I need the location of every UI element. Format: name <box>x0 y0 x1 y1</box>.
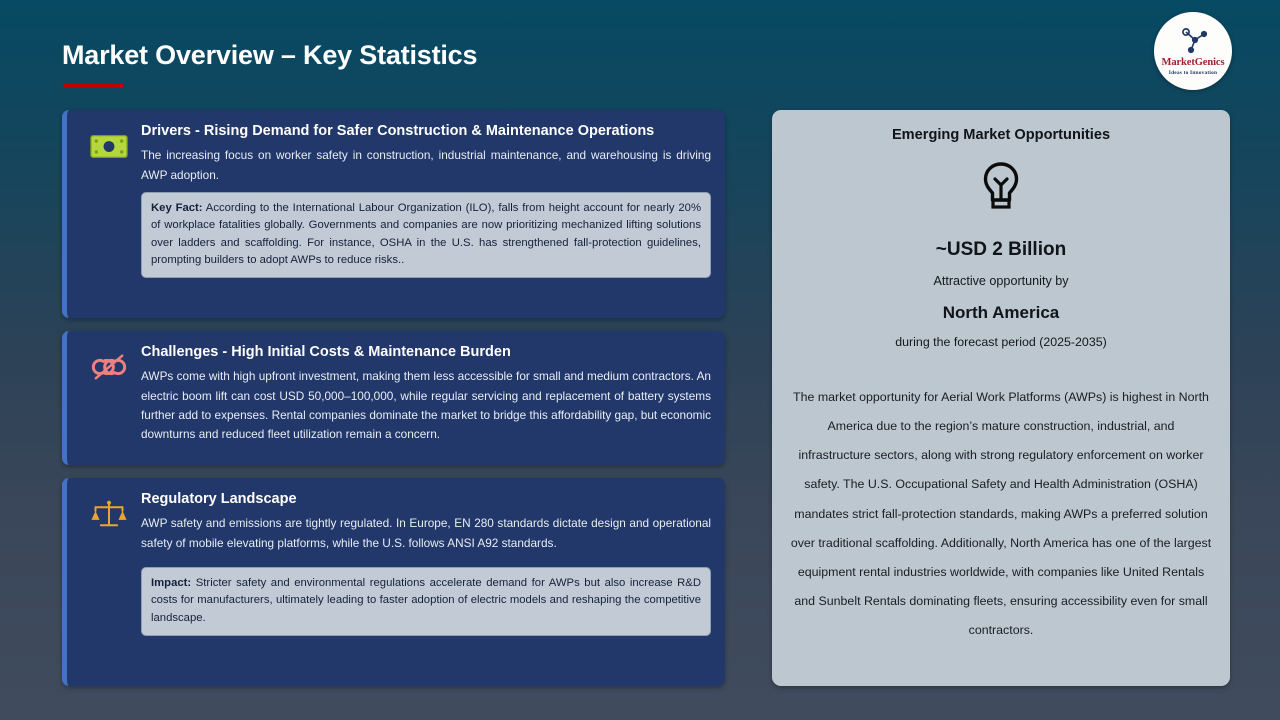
lightbulb-icon <box>974 159 1028 213</box>
key-fact-note: Key Fact: According to the International… <box>141 192 711 279</box>
panel-title: Emerging Market Opportunities <box>790 127 1212 143</box>
emerging-market-opportunities-panel[interactable]: Emerging Market Opportunities ~USD 2 Bil… <box>772 110 1230 686</box>
balance-scales-icon <box>87 494 131 534</box>
card-text: The increasing focus on worker safety in… <box>141 146 711 184</box>
card-drivers[interactable]: Drivers - Rising Demand for Safer Constr… <box>62 110 725 318</box>
network-nodes-icon <box>1176 26 1210 56</box>
page-title: Market Overview – Key Statistics <box>62 40 477 71</box>
impact-label: Impact: <box>151 577 191 589</box>
card-challenges-body: Challenges - High Initial Costs & Mainte… <box>141 331 725 444</box>
key-fact-label: Key Fact: <box>151 202 203 214</box>
forecast-period-label: during the forecast period (2025-2035) <box>790 335 1212 349</box>
title-underline-accent <box>63 84 123 88</box>
card-title: Regulatory Landscape <box>141 489 711 510</box>
market-value: ~USD 2 Billion <box>790 239 1212 261</box>
opportunity-label: Attractive opportunity by <box>790 274 1212 288</box>
card-regulatory-body: Regulatory Landscape AWP safety and emis… <box>141 478 725 636</box>
impact-note: Impact: Stricter safety and environmenta… <box>141 567 711 636</box>
broken-link-icon <box>87 347 131 387</box>
slide-header: Market Overview – Key Statistics <box>0 0 1280 104</box>
card-challenges[interactable]: Challenges - High Initial Costs & Mainte… <box>62 331 725 465</box>
card-drivers-body: Drivers - Rising Demand for Safer Constr… <box>141 110 725 278</box>
card-text: AWPs come with high upfront investment, … <box>141 367 711 444</box>
key-fact-text: According to the International Labour Or… <box>151 202 701 266</box>
card-regulatory[interactable]: Regulatory Landscape AWP safety and emis… <box>62 478 725 686</box>
impact-text: Stricter safety and environmental regula… <box>151 577 701 624</box>
card-title: Drivers - Rising Demand for Safer Constr… <box>141 121 711 142</box>
region-name: North America <box>790 303 1212 323</box>
money-banknote-icon <box>87 126 131 166</box>
card-text: AWP safety and emissions are tightly reg… <box>141 514 711 552</box>
panel-description: The market opportunity for Aerial Work P… <box>790 383 1212 645</box>
brand-logo[interactable]: MarketGenics Ideas to Innovation <box>1154 12 1232 90</box>
card-title: Challenges - High Initial Costs & Mainte… <box>141 342 711 363</box>
logo-wordmark: MarketGenics <box>1162 57 1225 68</box>
logo-tagline: Ideas to Innovation <box>1169 70 1217 76</box>
